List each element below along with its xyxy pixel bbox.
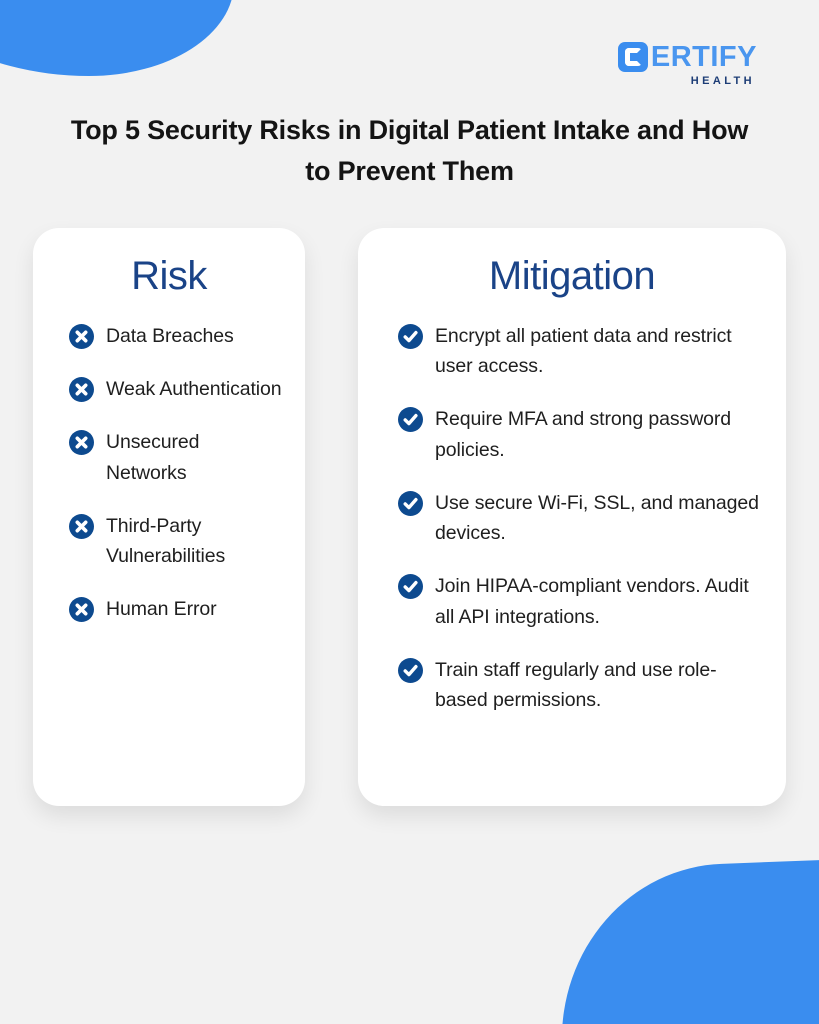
logo-wordmark: ERTIFY: [651, 43, 757, 72]
check-circle-icon: [398, 574, 423, 599]
check-circle-icon: [398, 324, 423, 349]
mitigation-list: Encrypt all patient data and restrict us…: [378, 321, 766, 715]
list-item-label: Encrypt all patient data and restrict us…: [435, 321, 766, 381]
x-circle-icon: [69, 377, 94, 402]
list-item-label: Weak Authentication: [106, 374, 282, 404]
x-circle-icon: [69, 430, 94, 455]
list-item: Unsecured Networks: [53, 427, 285, 487]
comparison-cards: Risk Data Breaches Weak Authentication: [33, 228, 786, 806]
list-item-label: Unsecured Networks: [106, 427, 285, 487]
check-circle-icon: [398, 407, 423, 432]
list-item: Use secure Wi-Fi, SSL, and managed devic…: [378, 488, 766, 548]
list-item: Train staff regularly and use role-based…: [378, 655, 766, 715]
logo-subtitle: HEALTH: [691, 75, 755, 87]
list-item-label: Train staff regularly and use role-based…: [435, 655, 766, 715]
list-item-label: Join HIPAA-compliant vendors. Audit all …: [435, 571, 766, 631]
check-circle-icon: [398, 658, 423, 683]
list-item: Encrypt all patient data and restrict us…: [378, 321, 766, 381]
decorative-shape-top-left: [0, 0, 234, 76]
list-item-label: Third-Party Vulnerabilities: [106, 511, 285, 571]
list-item: Require MFA and strong password policies…: [378, 404, 766, 464]
certify-health-logo: ERTIFY HEALTH: [618, 42, 757, 87]
risk-card: Risk Data Breaches Weak Authentication: [33, 228, 305, 806]
x-circle-icon: [69, 597, 94, 622]
list-item-label: Require MFA and strong password policies…: [435, 404, 766, 464]
list-item: Join HIPAA-compliant vendors. Audit all …: [378, 571, 766, 631]
x-circle-icon: [69, 324, 94, 349]
mitigation-card: Mitigation Encrypt all patient data and …: [358, 228, 786, 806]
page-title: Top 5 Security Risks in Digital Patient …: [0, 110, 819, 192]
logo-c-mark-icon: [618, 42, 648, 72]
risk-card-heading: Risk: [53, 254, 285, 299]
list-item-label: Human Error: [106, 594, 217, 624]
list-item-label: Use secure Wi-Fi, SSL, and managed devic…: [435, 488, 766, 548]
risk-list: Data Breaches Weak Authentication Unsecu…: [53, 321, 285, 625]
list-item: Weak Authentication: [53, 374, 285, 404]
check-circle-icon: [398, 491, 423, 516]
list-item: Human Error: [53, 594, 285, 624]
x-circle-icon: [69, 514, 94, 539]
list-item: Third-Party Vulnerabilities: [53, 511, 285, 571]
infographic-page: ERTIFY HEALTH Top 5 Security Risks in Di…: [0, 0, 819, 1024]
logo-primary-row: ERTIFY: [618, 42, 757, 72]
list-item-label: Data Breaches: [106, 321, 234, 351]
list-item: Data Breaches: [53, 321, 285, 351]
mitigation-card-heading: Mitigation: [378, 254, 766, 299]
decorative-shape-bottom-right: [555, 858, 819, 1024]
